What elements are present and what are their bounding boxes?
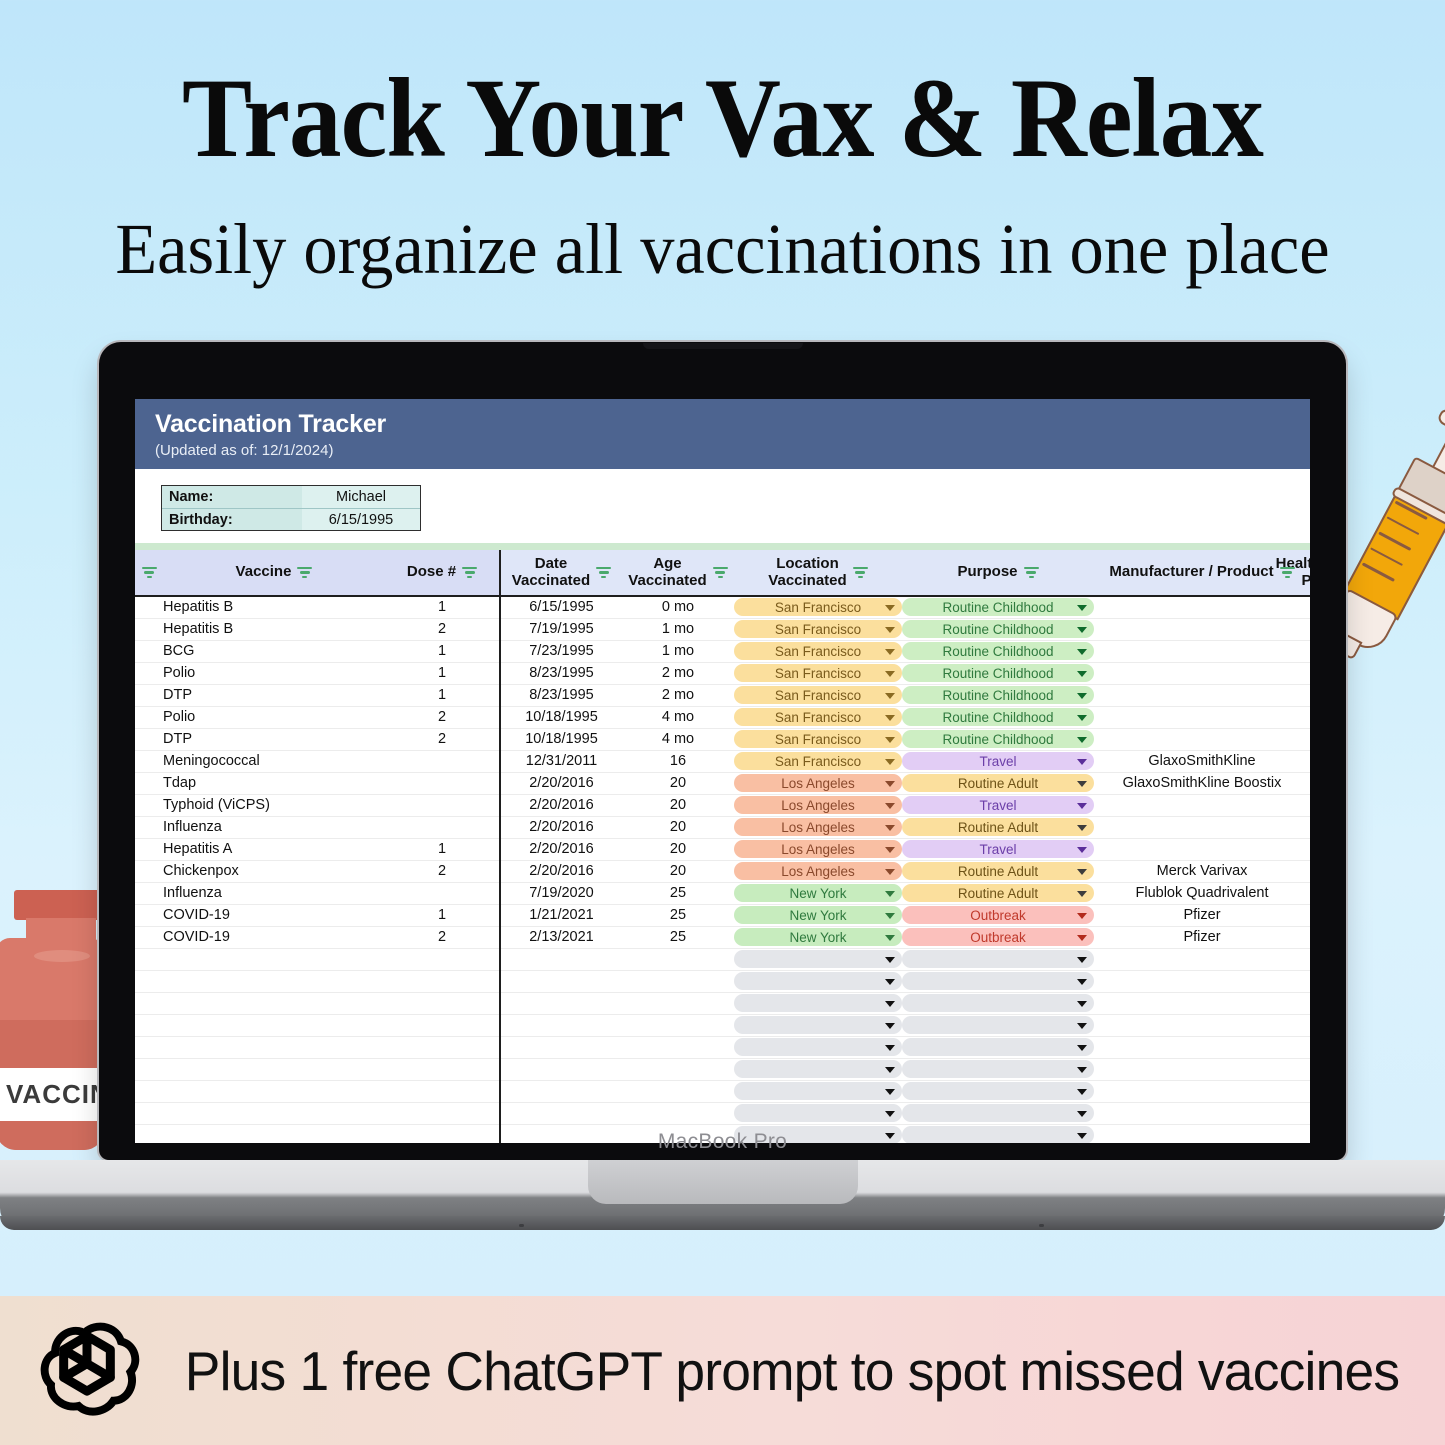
- cell-date-vaccinated[interactable]: [500, 992, 622, 1014]
- cell-location-vaccinated[interactable]: [734, 1058, 902, 1080]
- chevron-down-icon[interactable]: [885, 913, 895, 919]
- cell-date-vaccinated[interactable]: 6/15/1995: [500, 596, 622, 618]
- cell-vaccine[interactable]: [163, 1058, 385, 1080]
- cell-purpose[interactable]: Routine Childhood: [902, 684, 1094, 706]
- cell-vaccine[interactable]: [163, 1080, 385, 1102]
- cell-purpose[interactable]: [902, 1102, 1094, 1124]
- table-row[interactable]: Influenza7/19/202025New YorkRoutine Adul…: [135, 882, 1310, 904]
- table-row-empty[interactable]: [135, 970, 1310, 992]
- location-chip[interactable]: San Francisco: [734, 686, 902, 704]
- cell-purpose[interactable]: [902, 1080, 1094, 1102]
- chevron-down-icon[interactable]: [1077, 1111, 1087, 1117]
- cell-vaccine[interactable]: [163, 970, 385, 992]
- cell-purpose[interactable]: Routine Childhood: [902, 640, 1094, 662]
- cell-dose[interactable]: [385, 816, 500, 838]
- chevron-down-icon[interactable]: [885, 825, 895, 831]
- cell-date-vaccinated[interactable]: 2/20/2016: [500, 794, 622, 816]
- cell-purpose[interactable]: [902, 992, 1094, 1014]
- chevron-down-icon[interactable]: [1077, 825, 1087, 831]
- cell-dose[interactable]: 2: [385, 860, 500, 882]
- cell-manufacturer[interactable]: Pfizer: [1094, 904, 1310, 926]
- filter-icon[interactable]: [853, 567, 868, 578]
- chevron-down-icon[interactable]: [885, 847, 895, 853]
- location-chip-empty[interactable]: [734, 994, 902, 1012]
- cell-location-vaccinated[interactable]: [734, 1080, 902, 1102]
- cell-purpose[interactable]: Routine Adult: [902, 772, 1094, 794]
- cell-age-vaccinated[interactable]: 0 mo: [622, 596, 734, 618]
- cell-dose[interactable]: 1: [385, 904, 500, 926]
- cell-age-vaccinated[interactable]: [622, 1036, 734, 1058]
- chevron-down-icon[interactable]: [885, 1089, 895, 1095]
- cell-age-vaccinated[interactable]: 4 mo: [622, 728, 734, 750]
- table-row[interactable]: Hepatitis B27/19/19951 moSan FranciscoRo…: [135, 618, 1310, 640]
- purpose-chip[interactable]: Routine Childhood: [902, 664, 1094, 682]
- cell-vaccine[interactable]: Influenza: [163, 882, 385, 904]
- purpose-chip[interactable]: Routine Childhood: [902, 598, 1094, 616]
- chevron-down-icon[interactable]: [885, 1023, 895, 1029]
- cell-dose[interactable]: 2: [385, 728, 500, 750]
- cell-age-vaccinated[interactable]: 2 mo: [622, 684, 734, 706]
- cell-date-vaccinated[interactable]: [500, 1080, 622, 1102]
- cell-age-vaccinated[interactable]: 25: [622, 882, 734, 904]
- location-chip[interactable]: San Francisco: [734, 620, 902, 638]
- location-chip[interactable]: Los Angeles: [734, 796, 902, 814]
- chevron-down-icon[interactable]: [885, 627, 895, 633]
- cell-location-vaccinated[interactable]: San Francisco: [734, 596, 902, 618]
- cell-manufacturer[interactable]: [1094, 618, 1310, 640]
- purpose-chip-empty[interactable]: [902, 972, 1094, 990]
- chevron-down-icon[interactable]: [885, 605, 895, 611]
- filter-icon[interactable]: [462, 567, 477, 578]
- chevron-down-icon[interactable]: [1077, 627, 1087, 633]
- chevron-down-icon[interactable]: [885, 781, 895, 787]
- cell-dose[interactable]: [385, 948, 500, 970]
- table-row[interactable]: COVID-1911/21/202125New YorkOutbreakPfiz…: [135, 904, 1310, 926]
- chevron-down-icon[interactable]: [1077, 891, 1087, 897]
- cell-date-vaccinated[interactable]: [500, 970, 622, 992]
- cell-location-vaccinated[interactable]: [734, 992, 902, 1014]
- cell-purpose[interactable]: Routine Adult: [902, 816, 1094, 838]
- cell-purpose[interactable]: Outbreak: [902, 926, 1094, 948]
- cell-dose[interactable]: [385, 970, 500, 992]
- purpose-chip-empty[interactable]: [902, 994, 1094, 1012]
- cell-vaccine[interactable]: Chickenpox: [163, 860, 385, 882]
- table-row[interactable]: Polio210/18/19954 moSan FranciscoRoutine…: [135, 706, 1310, 728]
- chevron-down-icon[interactable]: [1077, 759, 1087, 765]
- cell-date-vaccinated[interactable]: 2/13/2021: [500, 926, 622, 948]
- purpose-chip[interactable]: Routine Childhood: [902, 708, 1094, 726]
- location-chip[interactable]: New York: [734, 884, 902, 902]
- cell-age-vaccinated[interactable]: [622, 1014, 734, 1036]
- table-row[interactable]: Hepatitis B16/15/19950 moSan FranciscoRo…: [135, 596, 1310, 618]
- cell-date-vaccinated[interactable]: 7/23/1995: [500, 640, 622, 662]
- cell-age-vaccinated[interactable]: [622, 1058, 734, 1080]
- cell-dose[interactable]: 1: [385, 596, 500, 618]
- chevron-down-icon[interactable]: [885, 693, 895, 699]
- table-row[interactable]: DTP210/18/19954 moSan FranciscoRoutine C…: [135, 728, 1310, 750]
- cell-purpose[interactable]: Travel: [902, 794, 1094, 816]
- cell-dose[interactable]: [385, 1036, 500, 1058]
- purpose-chip-empty[interactable]: [902, 950, 1094, 968]
- location-chip-empty[interactable]: [734, 972, 902, 990]
- chevron-down-icon[interactable]: [1077, 847, 1087, 853]
- cell-age-vaccinated[interactable]: 20: [622, 838, 734, 860]
- cell-location-vaccinated[interactable]: Los Angeles: [734, 838, 902, 860]
- location-chip[interactable]: New York: [734, 928, 902, 946]
- cell-date-vaccinated[interactable]: 2/20/2016: [500, 772, 622, 794]
- cell-manufacturer[interactable]: [1094, 1080, 1310, 1102]
- cell-vaccine[interactable]: BCG: [163, 640, 385, 662]
- cell-age-vaccinated[interactable]: 4 mo: [622, 706, 734, 728]
- cell-date-vaccinated[interactable]: 8/23/1995: [500, 684, 622, 706]
- cell-vaccine[interactable]: Polio: [163, 706, 385, 728]
- cell-manufacturer[interactable]: [1094, 1102, 1310, 1124]
- cell-manufacturer[interactable]: [1094, 728, 1310, 750]
- table-row[interactable]: Influenza2/20/201620Los AngelesRoutine A…: [135, 816, 1310, 838]
- filter-icon[interactable]: [596, 567, 611, 578]
- column-header-vaccine[interactable]: Vaccine: [163, 550, 385, 596]
- cell-age-vaccinated[interactable]: [622, 1080, 734, 1102]
- cell-date-vaccinated[interactable]: 2/20/2016: [500, 838, 622, 860]
- cell-manufacturer[interactable]: Flublok Quadrivalent: [1094, 882, 1310, 904]
- chevron-down-icon[interactable]: [885, 891, 895, 897]
- cell-date-vaccinated[interactable]: [500, 1014, 622, 1036]
- chevron-down-icon[interactable]: [885, 1111, 895, 1117]
- cell-age-vaccinated[interactable]: 1 mo: [622, 640, 734, 662]
- chevron-down-icon[interactable]: [1077, 1023, 1087, 1029]
- cell-dose[interactable]: [385, 794, 500, 816]
- cell-age-vaccinated[interactable]: 2 mo: [622, 662, 734, 684]
- cell-vaccine[interactable]: Meningococcal: [163, 750, 385, 772]
- cell-age-vaccinated[interactable]: [622, 970, 734, 992]
- purpose-chip[interactable]: Outbreak: [902, 928, 1094, 946]
- location-chip[interactable]: San Francisco: [734, 598, 902, 616]
- chevron-down-icon[interactable]: [885, 935, 895, 941]
- location-chip-empty[interactable]: [734, 1038, 902, 1056]
- cell-location-vaccinated[interactable]: San Francisco: [734, 728, 902, 750]
- purpose-chip[interactable]: Routine Adult: [902, 818, 1094, 836]
- cell-location-vaccinated[interactable]: New York: [734, 882, 902, 904]
- filter-icon[interactable]: [142, 567, 157, 578]
- filter-icon[interactable]: [297, 567, 312, 578]
- location-chip[interactable]: San Francisco: [734, 708, 902, 726]
- location-chip[interactable]: Los Angeles: [734, 840, 902, 858]
- purpose-chip-empty[interactable]: [902, 1060, 1094, 1078]
- cell-vaccine[interactable]: [163, 1036, 385, 1058]
- chevron-down-icon[interactable]: [1077, 957, 1087, 963]
- purpose-chip-empty[interactable]: [902, 1104, 1094, 1122]
- cell-manufacturer[interactable]: GlaxoSmithKline Boostix: [1094, 772, 1310, 794]
- chevron-down-icon[interactable]: [1077, 715, 1087, 721]
- chevron-down-icon[interactable]: [1077, 693, 1087, 699]
- purpose-chip-empty[interactable]: [902, 1038, 1094, 1056]
- chevron-down-icon[interactable]: [885, 737, 895, 743]
- cell-date-vaccinated[interactable]: 2/20/2016: [500, 816, 622, 838]
- cell-location-vaccinated[interactable]: [734, 970, 902, 992]
- location-chip-empty[interactable]: [734, 1016, 902, 1034]
- chevron-down-icon[interactable]: [885, 649, 895, 655]
- purpose-chip[interactable]: Routine Adult: [902, 862, 1094, 880]
- table-row-empty[interactable]: [135, 948, 1310, 970]
- table-row[interactable]: Typhoid (ViCPS)2/20/201620Los AngelesTra…: [135, 794, 1310, 816]
- cell-purpose[interactable]: Outbreak: [902, 904, 1094, 926]
- chevron-down-icon[interactable]: [885, 671, 895, 677]
- cell-manufacturer[interactable]: [1094, 1036, 1310, 1058]
- cell-purpose[interactable]: Travel: [902, 838, 1094, 860]
- purpose-chip-empty[interactable]: [902, 1016, 1094, 1034]
- birthday-value[interactable]: 6/15/1995: [302, 509, 420, 530]
- cell-age-vaccinated[interactable]: 16: [622, 750, 734, 772]
- chevron-down-icon[interactable]: [885, 869, 895, 875]
- cell-age-vaccinated[interactable]: 25: [622, 904, 734, 926]
- cell-purpose[interactable]: [902, 1058, 1094, 1080]
- purpose-chip[interactable]: Routine Childhood: [902, 686, 1094, 704]
- chevron-down-icon[interactable]: [885, 957, 895, 963]
- cell-vaccine[interactable]: [163, 992, 385, 1014]
- cell-manufacturer[interactable]: [1094, 816, 1310, 838]
- cell-vaccine[interactable]: DTP: [163, 728, 385, 750]
- cell-location-vaccinated[interactable]: San Francisco: [734, 684, 902, 706]
- cell-vaccine[interactable]: Influenza: [163, 816, 385, 838]
- cell-age-vaccinated[interactable]: 20: [622, 860, 734, 882]
- cell-dose[interactable]: [385, 750, 500, 772]
- chevron-down-icon[interactable]: [885, 1045, 895, 1051]
- chevron-down-icon[interactable]: [885, 715, 895, 721]
- chevron-down-icon[interactable]: [1077, 671, 1087, 677]
- cell-location-vaccinated[interactable]: San Francisco: [734, 750, 902, 772]
- cell-purpose[interactable]: Routine Childhood: [902, 618, 1094, 640]
- location-chip-empty[interactable]: [734, 950, 902, 968]
- chevron-down-icon[interactable]: [885, 1001, 895, 1007]
- location-chip[interactable]: New York: [734, 906, 902, 924]
- cell-age-vaccinated[interactable]: 20: [622, 816, 734, 838]
- cell-purpose[interactable]: [902, 970, 1094, 992]
- cell-location-vaccinated[interactable]: Los Angeles: [734, 860, 902, 882]
- cell-dose[interactable]: 1: [385, 838, 500, 860]
- table-row-empty[interactable]: [135, 1036, 1310, 1058]
- cell-location-vaccinated[interactable]: San Francisco: [734, 618, 902, 640]
- name-value[interactable]: Michael: [302, 486, 420, 508]
- cell-manufacturer[interactable]: Merck Varivax: [1094, 860, 1310, 882]
- chevron-down-icon[interactable]: [1077, 869, 1087, 875]
- cell-dose[interactable]: [385, 772, 500, 794]
- cell-location-vaccinated[interactable]: [734, 1036, 902, 1058]
- purpose-chip[interactable]: Routine Adult: [902, 774, 1094, 792]
- table-row-empty[interactable]: [135, 992, 1310, 1014]
- cell-manufacturer[interactable]: [1094, 794, 1310, 816]
- location-chip[interactable]: Los Angeles: [734, 774, 902, 792]
- cell-manufacturer[interactable]: [1094, 640, 1310, 662]
- cell-age-vaccinated[interactable]: [622, 1102, 734, 1124]
- filter-icon[interactable]: [713, 567, 728, 578]
- cell-purpose[interactable]: [902, 948, 1094, 970]
- cell-purpose[interactable]: Travel: [902, 750, 1094, 772]
- cell-age-vaccinated[interactable]: 20: [622, 794, 734, 816]
- table-row-empty[interactable]: [135, 1102, 1310, 1124]
- cell-vaccine[interactable]: Hepatitis B: [163, 618, 385, 640]
- table-row[interactable]: Hepatitis A12/20/201620Los AngelesTravel…: [135, 838, 1310, 860]
- cell-dose[interactable]: [385, 1080, 500, 1102]
- cell-purpose[interactable]: Routine Childhood: [902, 662, 1094, 684]
- location-chip[interactable]: Los Angeles: [734, 818, 902, 836]
- cell-manufacturer[interactable]: [1094, 948, 1310, 970]
- chevron-down-icon[interactable]: [1077, 1045, 1087, 1051]
- cell-date-vaccinated[interactable]: [500, 1036, 622, 1058]
- purpose-chip[interactable]: Travel: [902, 796, 1094, 814]
- cell-date-vaccinated[interactable]: 10/18/1995: [500, 706, 622, 728]
- cell-vaccine[interactable]: COVID-19: [163, 904, 385, 926]
- cell-dose[interactable]: [385, 1014, 500, 1036]
- cell-vaccine[interactable]: Polio: [163, 662, 385, 684]
- cell-date-vaccinated[interactable]: 12/31/2011: [500, 750, 622, 772]
- cell-date-vaccinated[interactable]: 8/23/1995: [500, 662, 622, 684]
- cell-location-vaccinated[interactable]: New York: [734, 904, 902, 926]
- table-row[interactable]: Chickenpox22/20/201620Los AngelesRoutine…: [135, 860, 1310, 882]
- cell-vaccine[interactable]: Typhoid (ViCPS): [163, 794, 385, 816]
- cell-dose[interactable]: 2: [385, 618, 500, 640]
- cell-age-vaccinated[interactable]: 20: [622, 772, 734, 794]
- chevron-down-icon[interactable]: [1077, 1089, 1087, 1095]
- table-row[interactable]: COVID-1922/13/202125New YorkOutbreakPfiz…: [135, 926, 1310, 948]
- cell-location-vaccinated[interactable]: Los Angeles: [734, 794, 902, 816]
- chevron-down-icon[interactable]: [885, 979, 895, 985]
- cell-location-vaccinated[interactable]: [734, 1014, 902, 1036]
- cell-purpose[interactable]: Routine Childhood: [902, 706, 1094, 728]
- chevron-down-icon[interactable]: [885, 759, 895, 765]
- cell-dose[interactable]: 1: [385, 662, 500, 684]
- cell-dose[interactable]: 2: [385, 926, 500, 948]
- cell-vaccine[interactable]: [163, 1014, 385, 1036]
- chevron-down-icon[interactable]: [1077, 1067, 1087, 1073]
- cell-dose[interactable]: [385, 882, 500, 904]
- table-row-empty[interactable]: [135, 1080, 1310, 1102]
- table-row[interactable]: Polio18/23/19952 moSan FranciscoRoutine …: [135, 662, 1310, 684]
- table-row[interactable]: BCG17/23/19951 moSan FranciscoRoutine Ch…: [135, 640, 1310, 662]
- column-header-date-vaccinated[interactable]: DateVaccinated: [500, 550, 622, 596]
- cell-manufacturer[interactable]: [1094, 1014, 1310, 1036]
- chevron-down-icon[interactable]: [1077, 979, 1087, 985]
- cell-location-vaccinated[interactable]: San Francisco: [734, 706, 902, 728]
- cell-location-vaccinated[interactable]: San Francisco: [734, 662, 902, 684]
- cell-location-vaccinated[interactable]: [734, 1102, 902, 1124]
- cell-dose[interactable]: 2: [385, 706, 500, 728]
- cell-location-vaccinated[interactable]: New York: [734, 926, 902, 948]
- cell-age-vaccinated[interactable]: [622, 948, 734, 970]
- location-chip[interactable]: San Francisco: [734, 752, 902, 770]
- filter-icon[interactable]: [1280, 567, 1295, 578]
- column-header-age-vaccinated[interactable]: AgeVaccinated: [622, 550, 734, 596]
- chevron-down-icon[interactable]: [1077, 935, 1087, 941]
- table-row-empty[interactable]: [135, 1014, 1310, 1036]
- cell-dose[interactable]: [385, 1058, 500, 1080]
- filter-icon[interactable]: [1024, 567, 1039, 578]
- column-header-dose[interactable]: Dose #: [385, 550, 500, 596]
- cell-manufacturer[interactable]: [1094, 596, 1310, 618]
- purpose-chip[interactable]: Outbreak: [902, 906, 1094, 924]
- cell-purpose[interactable]: Routine Childhood: [902, 728, 1094, 750]
- purpose-chip[interactable]: Routine Childhood: [902, 642, 1094, 660]
- cell-location-vaccinated[interactable]: Los Angeles: [734, 772, 902, 794]
- cell-age-vaccinated[interactable]: 1 mo: [622, 618, 734, 640]
- location-chip-empty[interactable]: [734, 1060, 902, 1078]
- cell-vaccine[interactable]: COVID-19: [163, 926, 385, 948]
- chevron-down-icon[interactable]: [1077, 605, 1087, 611]
- cell-vaccine[interactable]: [163, 948, 385, 970]
- cell-purpose[interactable]: [902, 1036, 1094, 1058]
- cell-manufacturer[interactable]: [1094, 662, 1310, 684]
- purpose-chip[interactable]: Routine Adult: [902, 884, 1094, 902]
- cell-age-vaccinated[interactable]: [622, 992, 734, 1014]
- chevron-down-icon[interactable]: [1077, 1001, 1087, 1007]
- chevron-down-icon[interactable]: [1077, 803, 1087, 809]
- table-row[interactable]: DTP18/23/19952 moSan FranciscoRoutine Ch…: [135, 684, 1310, 706]
- cell-date-vaccinated[interactable]: 2/20/2016: [500, 860, 622, 882]
- table-row[interactable]: Tdap2/20/201620Los AngelesRoutine AdultG…: [135, 772, 1310, 794]
- cell-vaccine[interactable]: Tdap: [163, 772, 385, 794]
- cell-vaccine[interactable]: DTP: [163, 684, 385, 706]
- cell-purpose[interactable]: [902, 1014, 1094, 1036]
- purpose-chip[interactable]: Routine Childhood: [902, 730, 1094, 748]
- purpose-chip[interactable]: Routine Childhood: [902, 620, 1094, 638]
- cell-date-vaccinated[interactable]: 10/18/1995: [500, 728, 622, 750]
- location-chip[interactable]: San Francisco: [734, 642, 902, 660]
- chevron-down-icon[interactable]: [1077, 649, 1087, 655]
- cell-purpose[interactable]: Routine Adult: [902, 882, 1094, 904]
- cell-manufacturer[interactable]: [1094, 706, 1310, 728]
- purpose-chip[interactable]: Travel: [902, 840, 1094, 858]
- cell-manufacturer[interactable]: [1094, 838, 1310, 860]
- cell-manufacturer[interactable]: [1094, 1058, 1310, 1080]
- chevron-down-icon[interactable]: [1077, 781, 1087, 787]
- chevron-down-icon[interactable]: [885, 1067, 895, 1073]
- column-header-purpose[interactable]: Purpose: [902, 550, 1094, 596]
- cell-date-vaccinated[interactable]: [500, 1058, 622, 1080]
- purpose-chip-empty[interactable]: [902, 1082, 1094, 1100]
- cell-dose[interactable]: 1: [385, 684, 500, 706]
- row-filter-header[interactable]: [135, 550, 163, 596]
- location-chip-empty[interactable]: [734, 1082, 902, 1100]
- cell-vaccine[interactable]: Hepatitis A: [163, 838, 385, 860]
- cell-dose[interactable]: [385, 992, 500, 1014]
- column-header-location-vaccinated[interactable]: LocationVaccinated: [734, 550, 902, 596]
- cell-vaccine[interactable]: Hepatitis B: [163, 596, 385, 618]
- table-row-empty[interactable]: [135, 1058, 1310, 1080]
- cell-dose[interactable]: 1: [385, 640, 500, 662]
- purpose-chip[interactable]: Travel: [902, 752, 1094, 770]
- cell-date-vaccinated[interactable]: [500, 948, 622, 970]
- chevron-down-icon[interactable]: [1077, 737, 1087, 743]
- cell-purpose[interactable]: Routine Childhood: [902, 596, 1094, 618]
- cell-purpose[interactable]: Routine Adult: [902, 860, 1094, 882]
- cell-manufacturer[interactable]: [1094, 992, 1310, 1014]
- cell-date-vaccinated[interactable]: 7/19/1995: [500, 618, 622, 640]
- location-chip[interactable]: Los Angeles: [734, 862, 902, 880]
- cell-date-vaccinated[interactable]: [500, 1102, 622, 1124]
- cell-manufacturer[interactable]: Pfizer: [1094, 926, 1310, 948]
- location-chip[interactable]: San Francisco: [734, 730, 902, 748]
- cell-dose[interactable]: [385, 1102, 500, 1124]
- chevron-down-icon[interactable]: [1077, 913, 1087, 919]
- location-chip-empty[interactable]: [734, 1104, 902, 1122]
- cell-vaccine[interactable]: [163, 1102, 385, 1124]
- cell-date-vaccinated[interactable]: 1/21/2021: [500, 904, 622, 926]
- cell-date-vaccinated[interactable]: 7/19/2020: [500, 882, 622, 904]
- cell-manufacturer[interactable]: [1094, 684, 1310, 706]
- chevron-down-icon[interactable]: [885, 803, 895, 809]
- cell-manufacturer[interactable]: [1094, 970, 1310, 992]
- cell-location-vaccinated[interactable]: Los Angeles: [734, 816, 902, 838]
- cell-age-vaccinated[interactable]: 25: [622, 926, 734, 948]
